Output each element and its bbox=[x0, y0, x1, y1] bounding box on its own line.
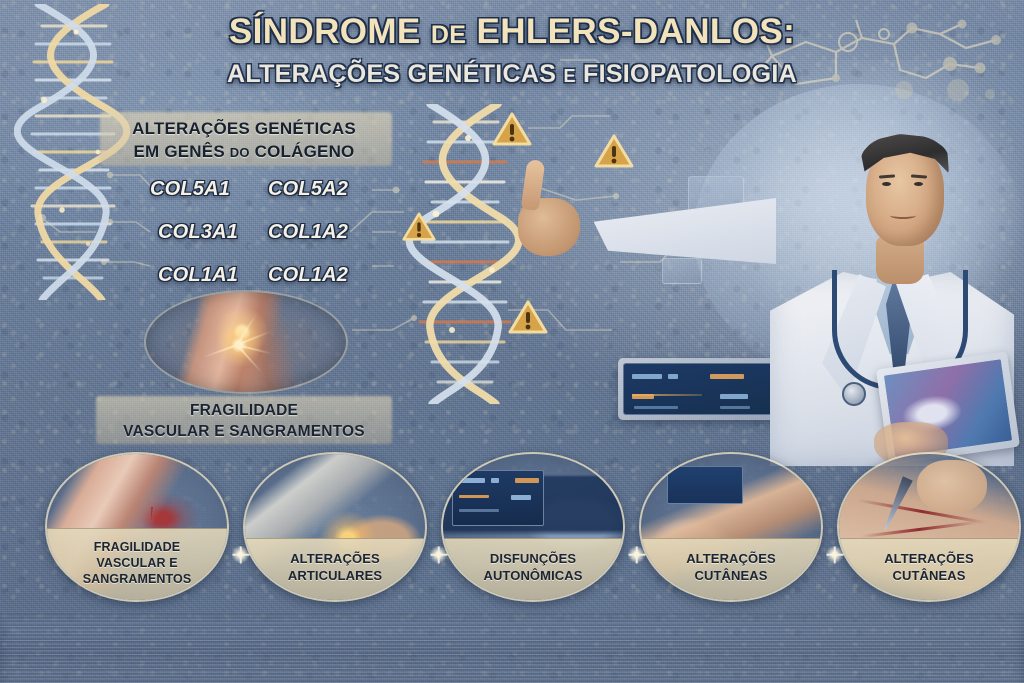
gene-panel-heading: ALTERAÇÕES GENÉTICAS EM GENÊS DO COLÁGEN… bbox=[110, 118, 378, 164]
circle-caption-line: FRAGILIDADE bbox=[94, 540, 181, 554]
circle-caption-line: DISFUNÇÕES bbox=[490, 551, 576, 566]
separator-diamond-icon bbox=[430, 546, 447, 563]
circle-alteracoes-cutaneas-1[interactable]: ALTERAÇÕES CUTÂNEAS bbox=[639, 452, 823, 602]
circle-fragilidade-vascular[interactable]: FRAGILIDADE VASCULAR E SANGRAMENTOS bbox=[45, 452, 229, 602]
circle-caption: ALTERAÇÕES CUTÂNEAS bbox=[839, 538, 1019, 600]
gene-label: COL3A1 bbox=[150, 221, 256, 244]
circle-caption-line: ALTERAÇÕES bbox=[290, 551, 380, 566]
circle-caption: FRAGILIDADE VASCULAR E SANGRAMENTOS bbox=[47, 528, 227, 600]
bottom-texture-band bbox=[0, 612, 1024, 683]
circle-disfuncoes-autonomicas[interactable]: DISFUNÇÕES AUTONÔMICAS bbox=[441, 452, 625, 602]
gene-label: COL1A1 bbox=[150, 264, 256, 287]
page-subtitle: ALTERAÇÕES GENÉTICAS E FISIOPATOLOGIA bbox=[0, 60, 1024, 89]
circle-caption: ALTERAÇÕES ARTICULARES bbox=[245, 538, 425, 600]
middle-caption-line-1: FRAGILIDADE bbox=[96, 400, 392, 421]
subtitle-part-1: ALTERAÇÕES GENÉTICAS bbox=[227, 60, 556, 88]
circle-caption-line: ALTERAÇÕES bbox=[686, 551, 776, 566]
gene-heading-line-2b: COLÁGENO bbox=[255, 142, 355, 161]
title-connector-de: DE bbox=[431, 21, 467, 49]
separator-diamond-icon bbox=[628, 546, 645, 563]
gene-label: COL5A2 bbox=[264, 178, 370, 201]
circle-caption: ALTERAÇÕES CUTÂNEAS bbox=[641, 538, 821, 600]
circle-caption-line: SANGRAMENTOS bbox=[83, 572, 192, 586]
gene-heading-line-2: EM GENÊS DO COLÁGENO bbox=[110, 141, 378, 164]
circle-alteracoes-articulares[interactable]: ALTERAÇÕES ARTICULARES bbox=[243, 452, 427, 602]
circle-caption-line: CUTÂNEAS bbox=[694, 568, 767, 583]
circle-alteracoes-cutaneas-2[interactable]: ALTERAÇÕES CUTÂNEAS bbox=[837, 452, 1021, 602]
title-part-1: SÍNDROME bbox=[229, 12, 421, 51]
circle-caption-line: ARTICULARES bbox=[288, 568, 382, 583]
title-block: SÍNDROME DE EHLERS-DANLOS: ALTERAÇÕES GE… bbox=[0, 14, 1024, 89]
symptom-circles: FRAGILIDADE VASCULAR E SANGRAMENTOS ALTE… bbox=[0, 452, 1024, 614]
gene-heading-connector-do: DO bbox=[230, 145, 250, 160]
gene-label: COL1A2 bbox=[264, 264, 370, 287]
gene-heading-line-2a: EM GENÊS bbox=[134, 142, 225, 161]
vital-signs-monitor bbox=[618, 358, 784, 420]
middle-caption: FRAGILIDADE VASCULAR E SANGRAMENTOS bbox=[96, 400, 392, 443]
title-part-2: EHLERS-DANLOS: bbox=[476, 12, 795, 51]
circle-caption: DISFUNÇÕES AUTONÔMICAS bbox=[443, 538, 623, 600]
middle-caption-line-2: VASCULAR E SANGRAMENTOS bbox=[96, 421, 392, 442]
gene-label: COL1A2 bbox=[264, 221, 370, 244]
separator-diamond-icon bbox=[232, 546, 249, 563]
gene-label: COL5A1 bbox=[150, 178, 256, 201]
circle-caption-line: CUTÂNEAS bbox=[892, 568, 965, 583]
circle-caption-line: VASCULAR E bbox=[96, 556, 177, 570]
subtitle-connector-e: E bbox=[563, 66, 575, 86]
gene-heading-line-1: ALTERAÇÕES GENÉTICAS bbox=[110, 118, 378, 141]
separator-diamond-icon bbox=[826, 546, 843, 563]
subtitle-part-2: FISIOPATOLOGIA bbox=[583, 60, 797, 88]
doctor-figure bbox=[762, 86, 1024, 466]
circle-caption-line: ALTERAÇÕES bbox=[884, 551, 974, 566]
infographic-poster: SÍNDROME DE EHLERS-DANLOS: ALTERAÇÕES GE… bbox=[0, 0, 1024, 683]
gene-list: COL5A1 COL5A2 COL3A1 COL1A2 COL1A1 COL1A… bbox=[150, 178, 370, 287]
circle-caption-line: AUTONÔMICAS bbox=[483, 568, 582, 583]
page-title: SÍNDROME DE EHLERS-DANLOS: bbox=[0, 14, 1024, 51]
